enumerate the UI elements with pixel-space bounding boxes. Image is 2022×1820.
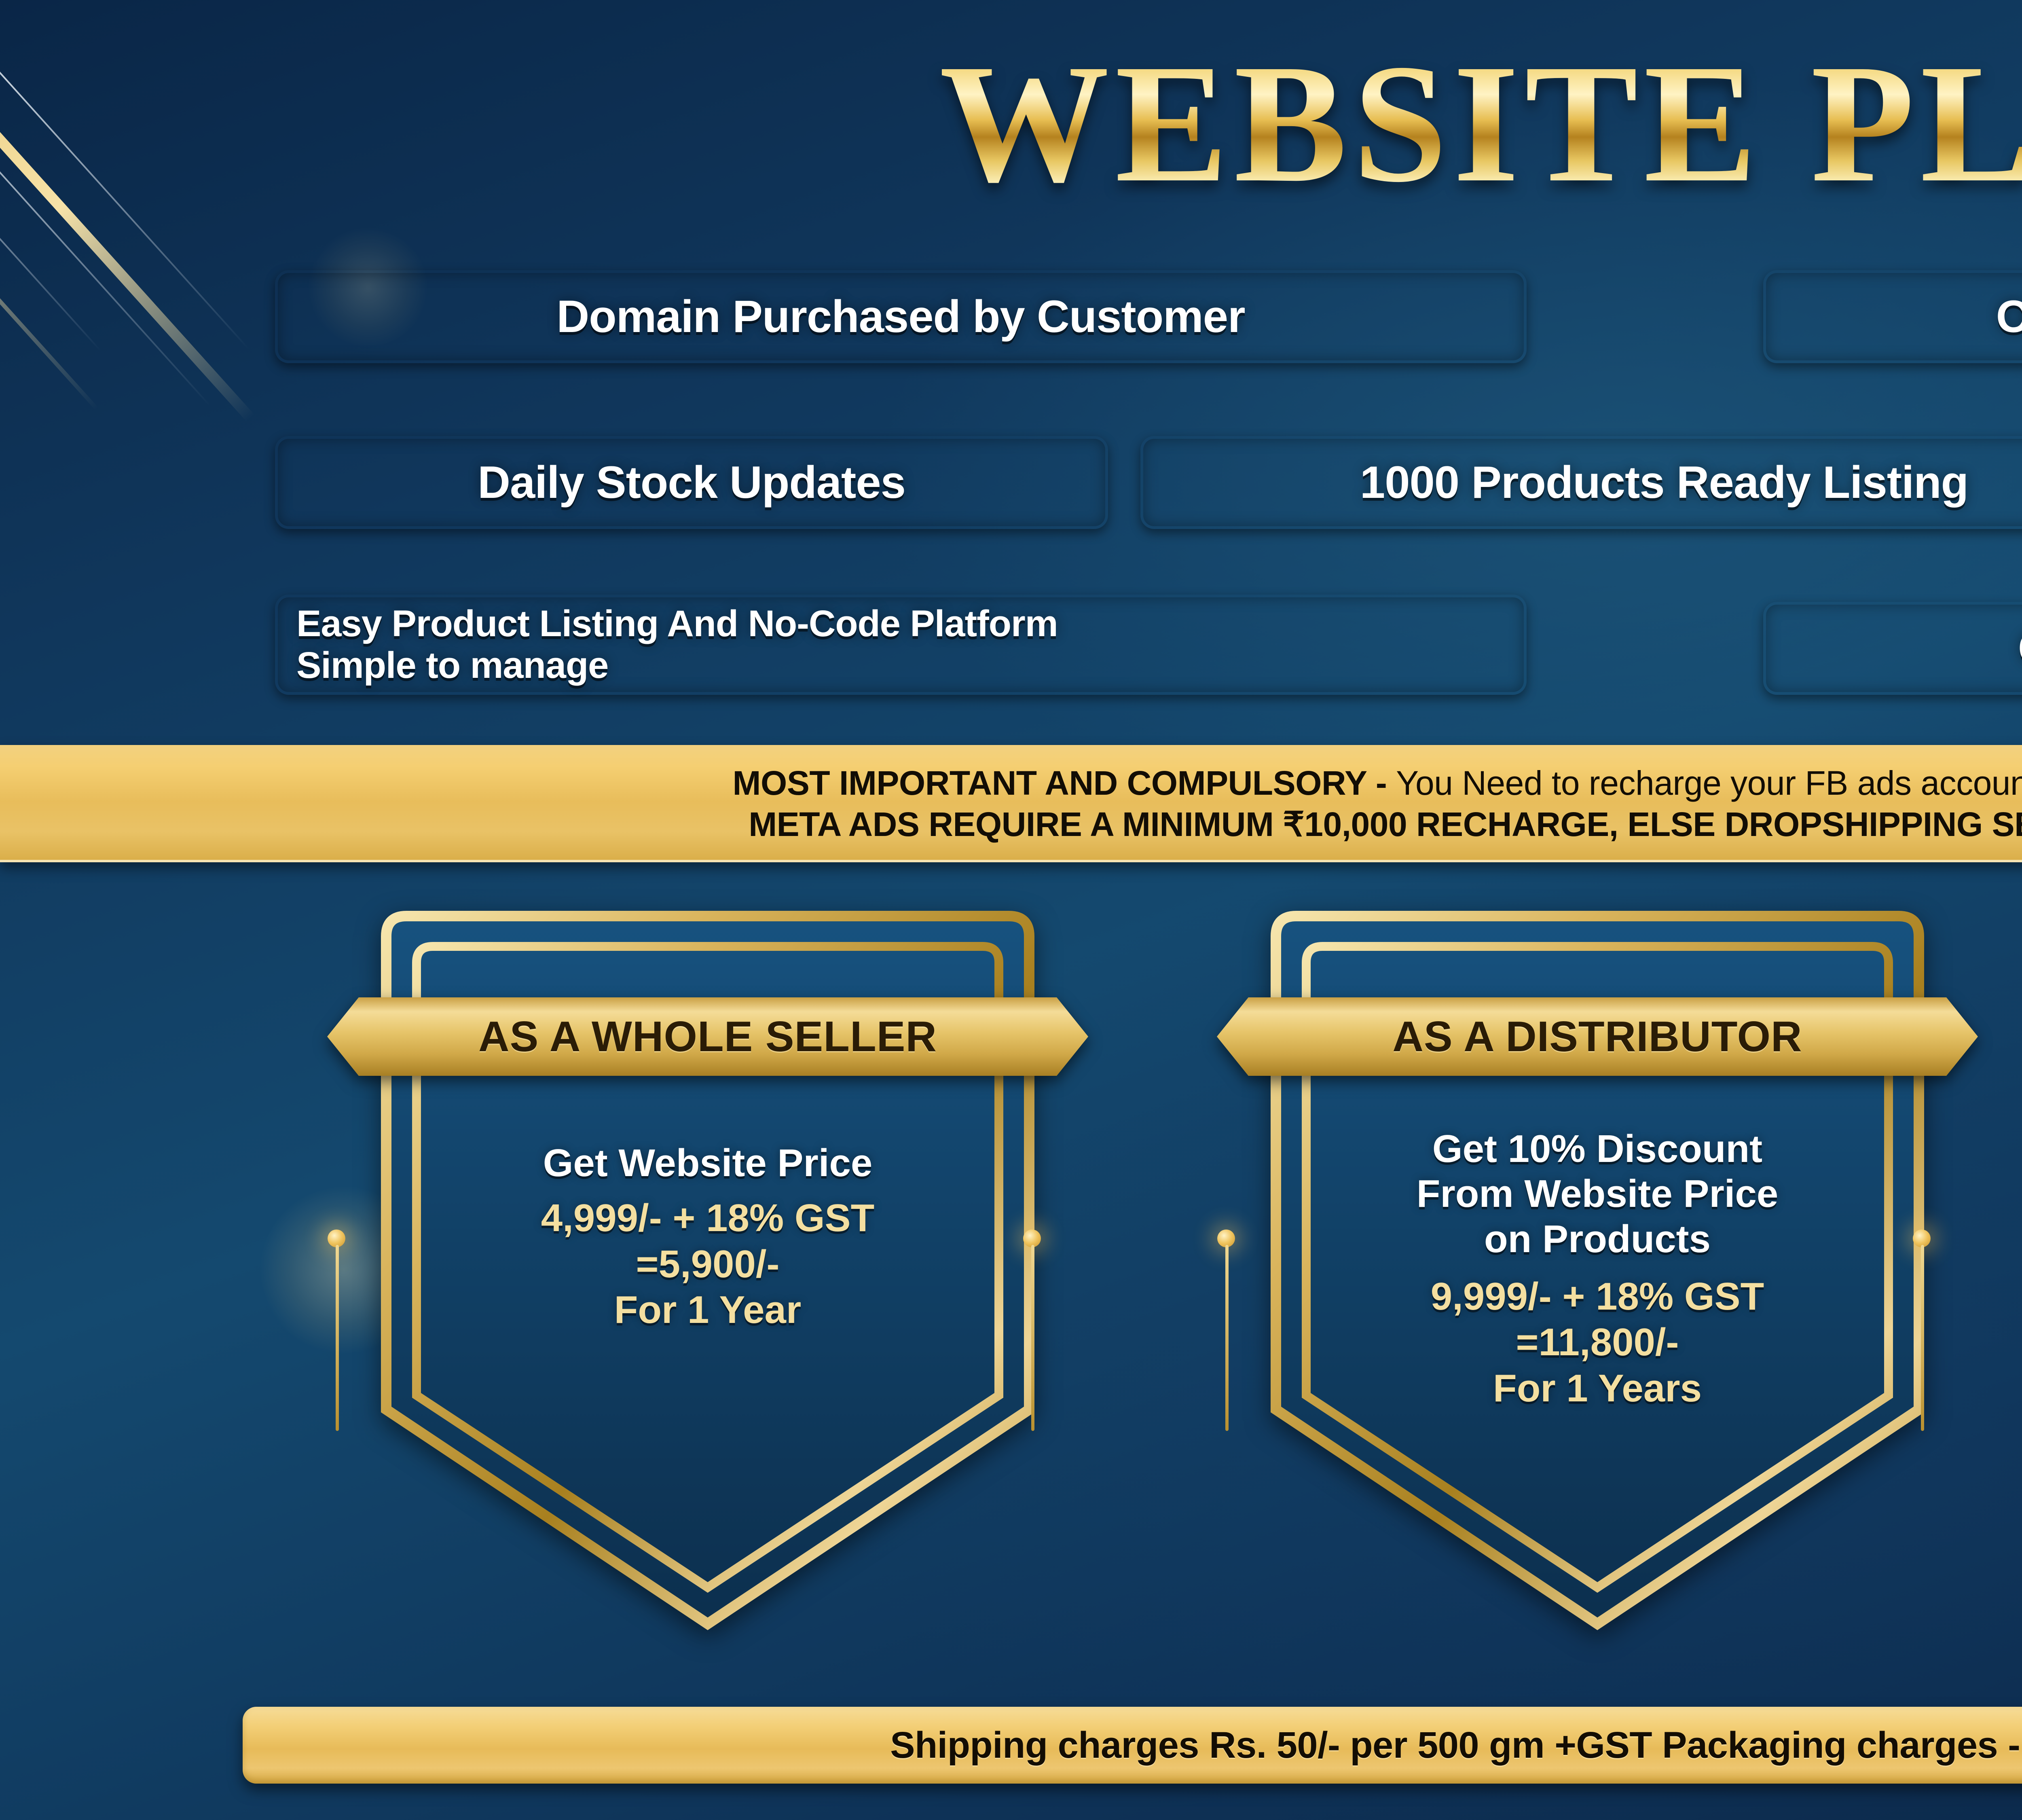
feature-1000-products-ready-listing[interactable]: 1000 Products Ready Listing <box>1140 436 2022 529</box>
plan-gold-line: =11,800/- <box>1235 1319 1959 1365</box>
decor-pin-line <box>1921 1245 1924 1431</box>
plan-ribbon: AS A DISTRIBUTOR <box>1217 995 1978 1078</box>
feature-label: Daily Stock Updates <box>478 459 905 506</box>
feature-easy-product-listing[interactable]: Easy Product Listing And No-Code Platfor… <box>275 595 1527 695</box>
notice-line-1-rest: You Need to recharge your FB ads account… <box>1396 764 2022 802</box>
plan-white-line: Get Website Price <box>346 1141 1070 1185</box>
plan-gold-line: For 1 Year <box>346 1287 1070 1333</box>
plan-card-distributor[interactable]: AS A DISTRIBUTOR Get 10% Discount From W… <box>1235 900 1959 1640</box>
notice-line-1-bold: MOST IMPORTANT AND COMPULSORY - <box>733 764 1396 802</box>
page-title: WEBSITE PLAN <box>0 38 2022 208</box>
feature-order-management-panel[interactable]: Order Management Panel <box>1763 270 2022 363</box>
plan-body: Get 10% Discount From Website Price on P… <box>1235 1126 1959 1411</box>
decor-pin-line <box>1225 1245 1229 1431</box>
plan-white-line: Get 10% Discount <box>1235 1126 1959 1171</box>
page-title-text: WEBSITE PLAN <box>939 38 2022 208</box>
poster-root: WEBSITE PLAN Domain Purchased by Custome… <box>0 0 2022 1820</box>
plan-gold-line: 9,999/- + 18% GST <box>1235 1274 1959 1319</box>
plan-gold-line: 4,999/- + 18% GST <box>346 1195 1070 1241</box>
feature-label: Order Management Panel <box>1996 294 2022 340</box>
decor-pin-line <box>1031 1245 1034 1431</box>
feature-domain-purchased[interactable]: Domain Purchased by Customer <box>275 270 1527 363</box>
plan-body: Get Website Price 4,999/- + 18% GST =5,9… <box>346 1141 1070 1333</box>
notice-line-2: META ADS REQUIRE A MINIMUM ₹10,000 RECHA… <box>749 804 2022 845</box>
decor-pin-line <box>336 1245 339 1431</box>
feature-label: 1000 Products Ready Listing <box>1360 459 1968 506</box>
feature-label: Google Ads & Meta Pixel Integration <box>2018 625 2022 671</box>
plan-white-line: From Website Price <box>1235 1171 1959 1216</box>
plan-ribbon-label: AS A DISTRIBUTOR <box>1217 995 1978 1078</box>
important-notice-banner: MOST IMPORTANT AND COMPULSORY - You Need… <box>0 745 2022 862</box>
feature-google-ads-meta-pixel[interactable]: Google Ads & Meta Pixel Integration <box>1763 602 2022 695</box>
feature-label: Easy Product Listing And No-Code Platfor… <box>296 603 1058 686</box>
notice-line-1: MOST IMPORTANT AND COMPULSORY - You Need… <box>733 762 2022 804</box>
plan-card-whole-seller[interactable]: AS A WHOLE SELLER Get Website Price 4,99… <box>346 900 1070 1640</box>
feature-daily-stock-updates[interactable]: Daily Stock Updates <box>275 436 1108 529</box>
shipping-charges-text: Shipping charges Rs. 50/- per 500 gm +GS… <box>890 1724 2022 1767</box>
plan-gold-line: =5,900/- <box>346 1241 1070 1287</box>
feature-label: Domain Purchased by Customer <box>556 294 1245 340</box>
plan-white-line: on Products <box>1235 1217 1959 1261</box>
plan-gold-line: For 1 Years <box>1235 1365 1959 1411</box>
plan-ribbon: AS A WHOLE SELLER <box>327 995 1088 1078</box>
shipping-charges-banner: Shipping charges Rs. 50/- per 500 gm +GS… <box>243 1707 2022 1784</box>
plan-ribbon-label: AS A WHOLE SELLER <box>327 995 1088 1078</box>
